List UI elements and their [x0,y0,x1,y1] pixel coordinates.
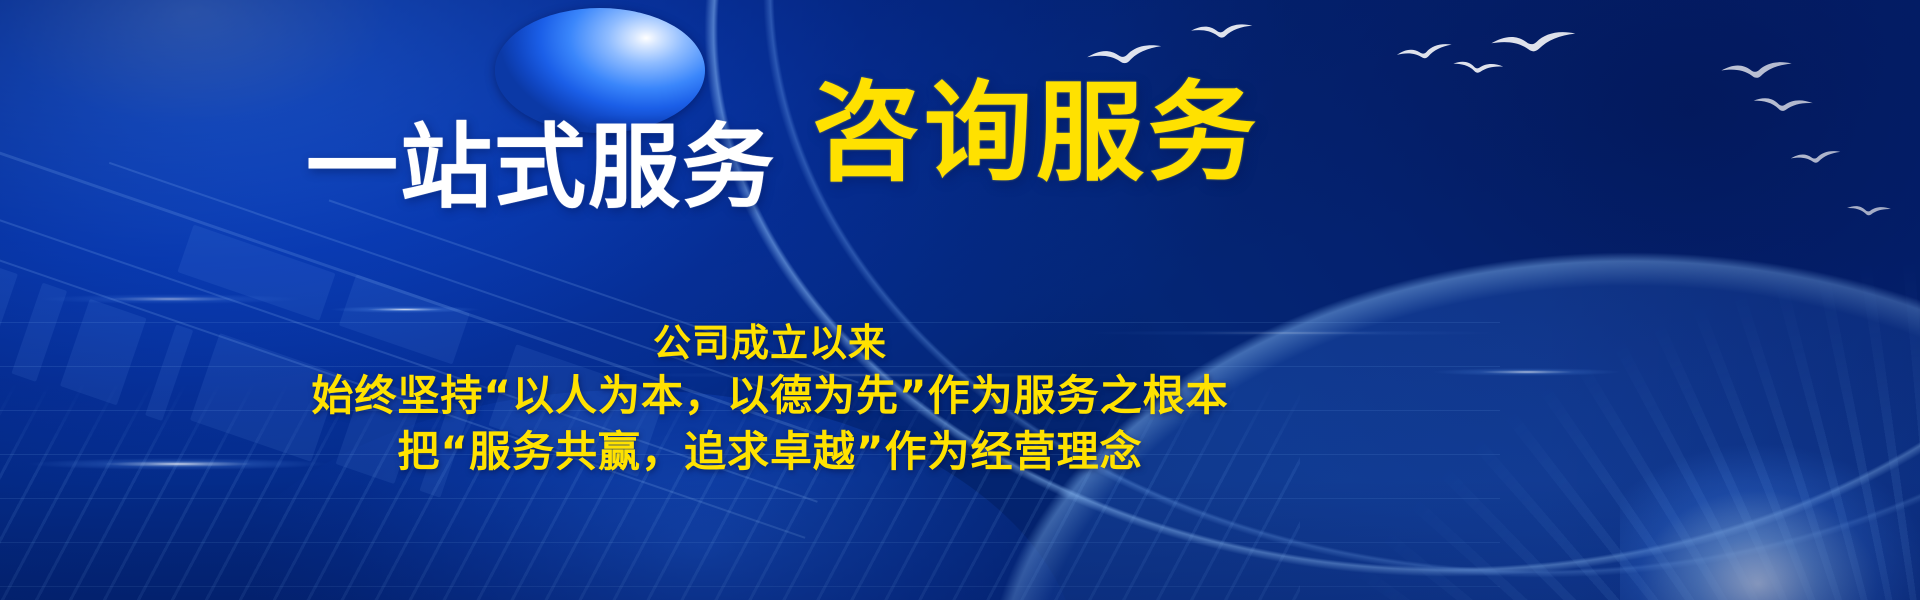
lens-flare-streak [330,306,480,313]
seagull-icon [1751,94,1814,118]
radial-ray-fan-core [1620,440,1920,600]
glossy-blue-orb [495,8,705,133]
lens-flare-streak [40,294,300,304]
lens-flare-streak [28,458,328,470]
lens-flare-streak [1432,368,1622,376]
seagull-icon [1846,203,1893,221]
promo-banner: 一站式服务 咨询服务 公司成立以来 始终坚持“以人为本，以德为先”作为服务之根本… [0,0,1920,600]
seagull-icon [1189,20,1254,46]
lens-flare-streak [600,372,1120,378]
lens-flare-streak [1080,330,1500,336]
